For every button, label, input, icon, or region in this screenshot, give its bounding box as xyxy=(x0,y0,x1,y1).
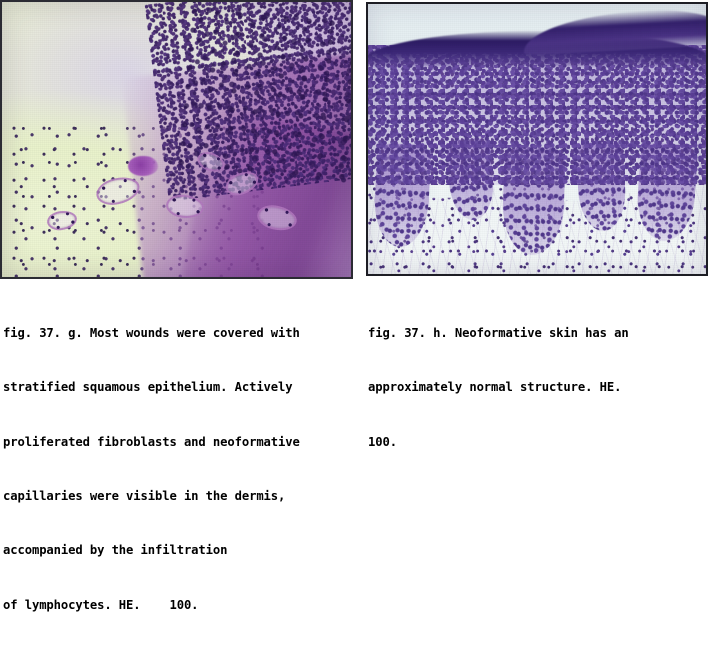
micrograph-panel-g[interactable] xyxy=(0,0,353,279)
caption-line: 100. xyxy=(368,433,629,451)
micrograph-image-h xyxy=(368,4,706,274)
caption-line: fig. 37. g. Most wounds were covered wit… xyxy=(3,324,300,342)
figure-plate: fig. 37. g. Most wounds were covered wit… xyxy=(0,0,716,411)
caption-panel-h: fig. 37. h. Neoformative skin has an app… xyxy=(368,288,629,487)
micrograph-panel-h[interactable] xyxy=(366,2,708,276)
vignette-overlay-g xyxy=(2,2,351,277)
caption-line: of lymphocytes. HE. 100. xyxy=(3,596,300,614)
caption-line: stratified squamous epithelium. Actively xyxy=(3,378,300,396)
caption-line: accompanied by the infiltration xyxy=(3,541,300,559)
caption-line: approximately normal structure. HE. xyxy=(368,378,629,396)
caption-line: capillaries were visible in the dermis, xyxy=(3,487,300,505)
caption-line: fig. 37. h. Neoformative skin has an xyxy=(368,324,629,342)
micrograph-image-g xyxy=(2,2,351,277)
caption-line: proliferated fibroblasts and neoformativ… xyxy=(3,433,300,451)
caption-panel-g: fig. 37. g. Most wounds were covered wit… xyxy=(3,288,300,650)
vignette-overlay-h xyxy=(368,4,706,274)
